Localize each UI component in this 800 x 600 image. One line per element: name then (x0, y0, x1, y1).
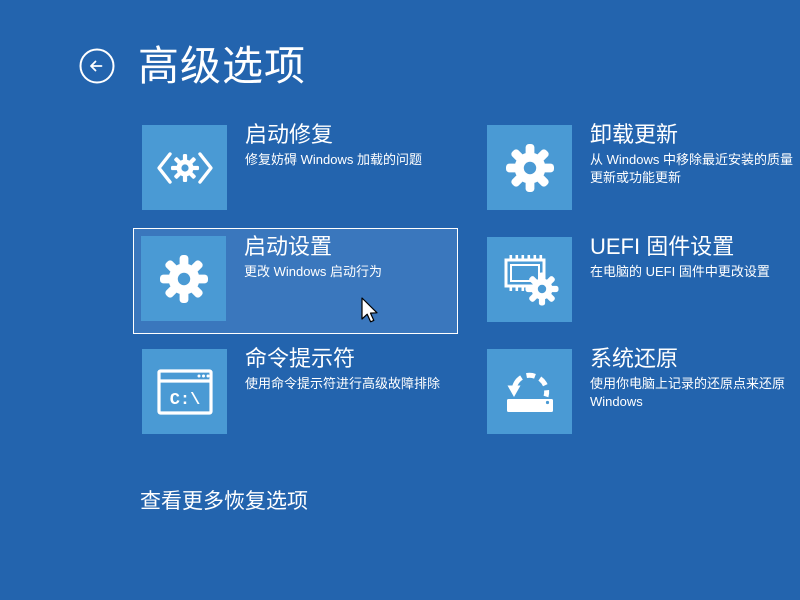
tile-system-restore[interactable]: 系统还原 使用你电脑上记录的还原点来还原 Windows (478, 340, 800, 446)
system-restore-icon (487, 349, 572, 434)
gear-icon (141, 236, 226, 321)
tile-description: 修复妨碍 Windows 加载的问题 (245, 151, 457, 169)
tile-text: 卸载更新 从 Windows 中移除最近安装的质量更新或功能更新 (572, 117, 800, 186)
tile-text: UEFI 固件设置 在电脑的 UEFI 固件中更改设置 (572, 229, 800, 281)
svg-text:C:\: C:\ (169, 391, 200, 410)
tile-title: 命令提示符 (245, 346, 457, 372)
tile-command-prompt[interactable]: C:\ 命令提示符 使用命令提示符进行高级故障排除 (133, 340, 458, 446)
tile-title: 卸载更新 (590, 122, 800, 148)
see-more-recovery-options-link[interactable]: 查看更多恢复选项 (140, 489, 308, 514)
tile-text: 系统还原 使用你电脑上记录的还原点来还原 Windows (572, 341, 800, 410)
tile-title: 启动修复 (245, 122, 457, 148)
options-column-left: 启动修复 修复妨碍 Windows 加载的问题 (133, 116, 458, 452)
tile-startup-repair[interactable]: 启动修复 修复妨碍 Windows 加载的问题 (133, 116, 458, 222)
tile-text: 启动设置 更改 Windows 启动行为 (226, 229, 457, 281)
tile-title: UEFI 固件设置 (590, 234, 800, 260)
tile-uefi-firmware-settings[interactable]: UEFI 固件设置 在电脑的 UEFI 固件中更改设置 (478, 228, 800, 334)
page-title: 高级选项 (138, 46, 306, 87)
page-header: 高级选项 (78, 36, 306, 96)
tile-description: 在电脑的 UEFI 固件中更改设置 (590, 263, 800, 281)
tile-uninstall-updates[interactable]: 卸载更新 从 Windows 中移除最近安装的质量更新或功能更新 (478, 116, 800, 222)
back-button[interactable] (78, 47, 116, 85)
command-prompt-icon: C:\ (142, 349, 227, 434)
tile-title: 启动设置 (244, 234, 457, 260)
tile-description: 使用你电脑上记录的还原点来还原 Windows (590, 375, 800, 410)
uefi-chip-icon (487, 237, 572, 322)
tile-text: 命令提示符 使用命令提示符进行高级故障排除 (227, 341, 457, 393)
tile-startup-settings[interactable]: 启动设置 更改 Windows 启动行为 (133, 228, 458, 334)
tile-description: 更改 Windows 启动行为 (244, 263, 457, 281)
tile-text: 启动修复 修复妨碍 Windows 加载的问题 (227, 117, 457, 169)
back-arrow-circle-icon (78, 47, 116, 85)
options-column-right: 卸载更新 从 Windows 中移除最近安装的质量更新或功能更新 (478, 116, 800, 452)
tile-description: 从 Windows 中移除最近安装的质量更新或功能更新 (590, 151, 800, 186)
tile-description: 使用命令提示符进行高级故障排除 (245, 375, 457, 393)
tile-title: 系统还原 (590, 346, 800, 372)
startup-repair-icon (142, 125, 227, 210)
gear-icon (487, 125, 572, 210)
